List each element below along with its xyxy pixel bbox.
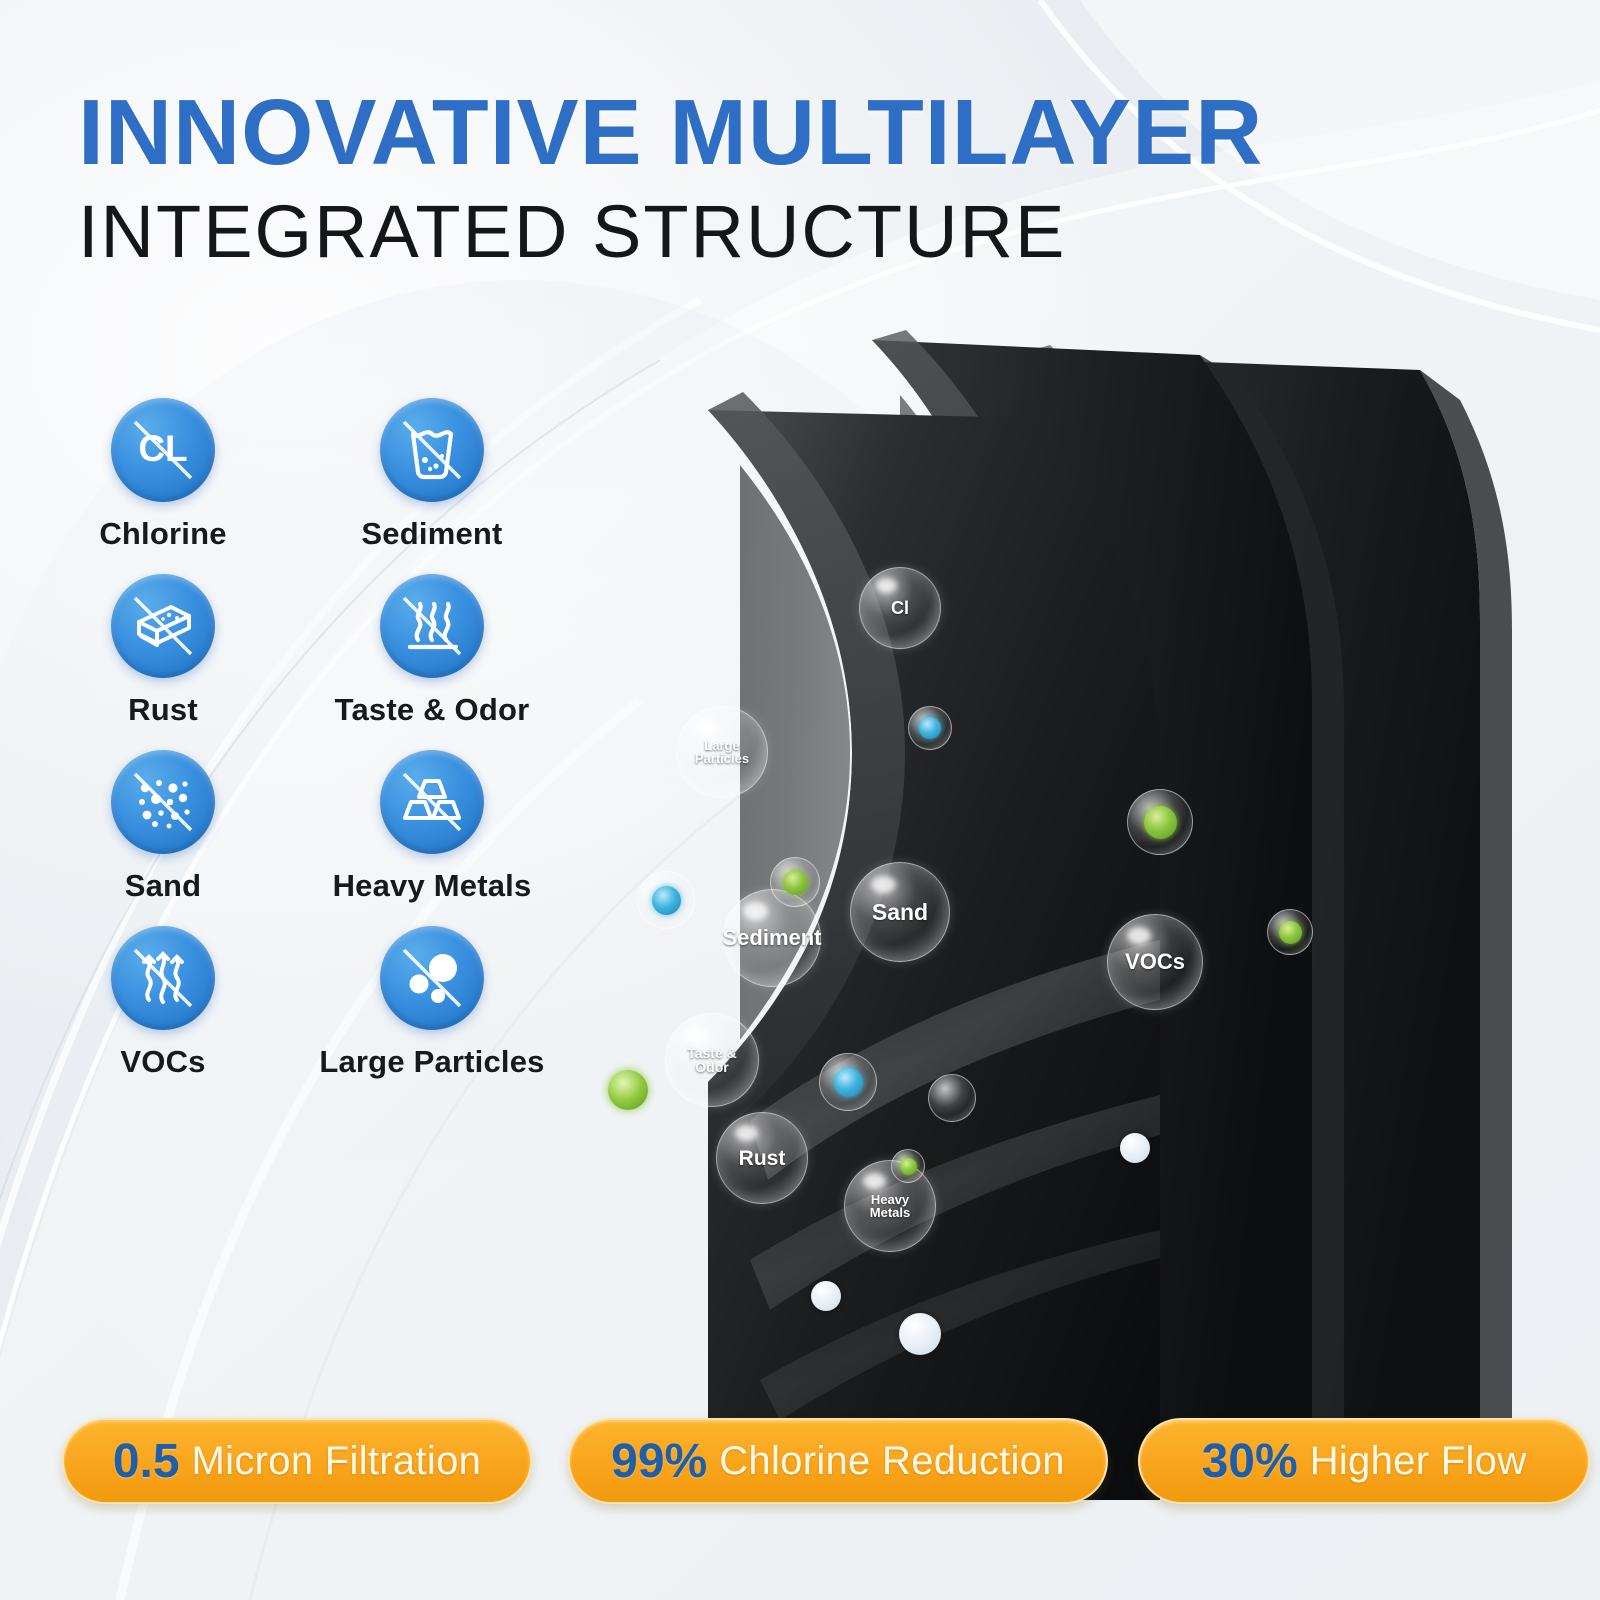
page-title-secondary: INTEGRATED STRUCTURE — [78, 195, 1418, 269]
filter-surface-hole — [899, 1313, 941, 1355]
contaminant-item-heavy-metals: Heavy Metals — [282, 750, 582, 926]
contaminant-label: Sediment — [361, 516, 502, 552]
microbe-bubble-green — [1127, 789, 1193, 855]
contaminant-item-taste-odor: Taste & Odor — [282, 574, 582, 750]
contaminant-item-rust: Rust — [72, 574, 254, 750]
contaminant-item-vocs: VOCs — [72, 926, 254, 1102]
contaminant-label: Sand — [125, 868, 202, 904]
microbe-bubble-green — [770, 857, 820, 907]
contaminant-label: VOCs — [120, 1044, 205, 1080]
contaminant-label: Rust — [128, 692, 198, 728]
contaminant-label: Heavy Metals — [333, 868, 532, 904]
contaminant-item-large-particles: Large Particles — [282, 926, 582, 1102]
contaminant-icon-grid: CL Chlorine — [72, 398, 592, 1102]
microbe-core — [1144, 806, 1177, 839]
microbe-bubble-green — [891, 1149, 925, 1183]
stat-badge-label: Chlorine Reduction — [719, 1439, 1065, 1484]
microbe-core — [608, 1070, 648, 1110]
microbe-core — [919, 717, 941, 739]
filter-surface-hole — [1120, 1133, 1150, 1163]
page-header: INNOVATIVE MULTILAYER INTEGRATED STRUCTU… — [78, 86, 1418, 269]
no-chlorine-icon: CL — [111, 398, 215, 502]
microbe-core — [783, 870, 808, 895]
no-vocs-icon — [111, 926, 215, 1030]
microbe-core — [834, 1068, 863, 1097]
filter-surface-hole — [811, 1281, 841, 1311]
stat-badge-chlorine-reduction[interactable]: 99% Chlorine Reduction — [568, 1418, 1108, 1504]
no-sediment-glass-icon — [380, 398, 484, 502]
microbe-core — [900, 1158, 917, 1175]
microbe-bubble-blue — [819, 1053, 877, 1111]
microbe-core — [652, 886, 681, 915]
no-rust-icon — [111, 574, 215, 678]
contaminant-item-sand: Sand — [72, 750, 254, 926]
stat-badge-value: 30% — [1202, 1434, 1298, 1489]
stat-badge-value: 0.5 — [113, 1434, 180, 1489]
contaminant-label: Taste & Odor — [335, 692, 530, 728]
stat-badge-row: 0.5 Micron Filtration 99% Chlorine Reduc… — [0, 1418, 1600, 1528]
no-taste-odor-icon — [380, 574, 484, 678]
stat-badge-higher-flow[interactable]: 30% Higher Flow — [1138, 1418, 1590, 1504]
microbe-bubble-blue — [908, 706, 952, 750]
contaminant-item-sediment: Sediment — [282, 398, 582, 574]
contaminant-label: Chlorine — [99, 516, 226, 552]
microbe-bubble-blue — [637, 871, 695, 929]
stat-badge-value: 99% — [611, 1434, 707, 1489]
stat-badge-micron-filtration[interactable]: 0.5 Micron Filtration — [62, 1418, 532, 1504]
multilayer-filter-illustration — [600, 300, 1600, 1500]
no-sand-icon — [111, 750, 215, 854]
infographic-canvas: INNOVATIVE MULTILAYER INTEGRATED STRUCTU… — [0, 0, 1600, 1600]
page-title-primary: INNOVATIVE MULTILAYER — [78, 86, 1418, 179]
stat-badge-label: Micron Filtration — [192, 1439, 482, 1484]
no-heavy-metals-icon — [380, 750, 484, 854]
contaminant-label: Large Particles — [319, 1044, 544, 1080]
microbe-core — [1279, 921, 1302, 944]
contaminant-item-chlorine: CL Chlorine — [72, 398, 254, 574]
free-floating-microbe — [608, 1070, 648, 1110]
stat-badge-label: Higher Flow — [1310, 1439, 1527, 1484]
microbe-bubble-plain — [928, 1074, 976, 1122]
microbe-bubble-green — [1267, 909, 1313, 955]
no-large-particles-icon — [380, 926, 484, 1030]
